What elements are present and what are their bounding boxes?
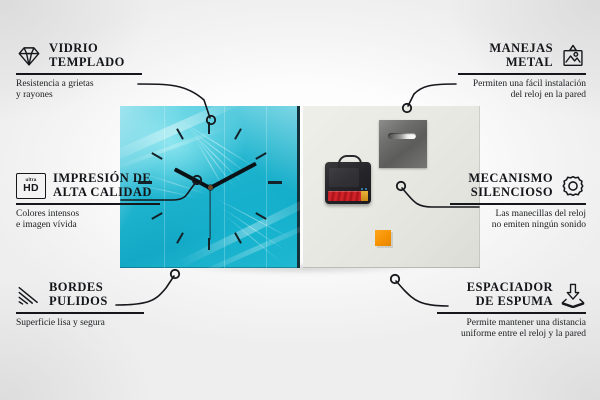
callout-description: Superficie lisa y segura — [16, 318, 144, 330]
clock-center-hub — [208, 185, 213, 190]
clock-tick — [255, 152, 266, 160]
callout-description: Las manecillas del reloj no emiten ningú… — [450, 209, 586, 232]
clock-tick — [208, 122, 210, 134]
callout-divider — [16, 312, 144, 314]
callout-foam-spacer: ESPACIADOR DE ESPUMA Permite mantener un… — [437, 281, 586, 341]
clock-tick — [268, 181, 282, 184]
callout-title: MANEJAS METAL — [489, 42, 553, 69]
battery-terminal — [361, 191, 368, 201]
callout-divider — [437, 312, 586, 314]
leader-line-metal-handles — [408, 84, 456, 106]
callout-title: ESPACIADOR DE ESPUMA — [467, 281, 553, 308]
callout-divider — [458, 73, 586, 75]
battery — [328, 191, 368, 201]
mechanism-hanging-loop — [338, 155, 362, 169]
clock-tick — [208, 238, 210, 250]
clock-tick — [176, 232, 184, 243]
mechanism-indicator-dot — [361, 188, 363, 190]
glass-sheen — [120, 106, 246, 164]
callout-header: MECANISMO SILENCIOSO — [450, 172, 586, 199]
hanging-frame-icon — [560, 43, 586, 69]
infographic-canvas: VIDRIO TEMPLADO Resistencia a grietas y … — [0, 0, 600, 400]
callout-description: Colores intensos e imagen vívida — [16, 209, 160, 232]
product-image — [120, 106, 480, 274]
quartz-mechanism — [325, 162, 371, 204]
clock-tick — [234, 128, 242, 139]
polished-edge-lines-icon — [16, 282, 42, 308]
arrow-down-into-tray-icon — [560, 282, 586, 308]
ultra-hd-icon: ultra HD — [16, 173, 46, 199]
callout-title: VIDRIO TEMPLADO — [49, 42, 125, 69]
diamond-icon — [16, 43, 42, 69]
callout-header: MANEJAS METAL — [458, 42, 586, 69]
callout-description: Permite mantener una distancia uniforme … — [437, 318, 586, 341]
mechanism-indicator-dot — [365, 188, 367, 190]
callout-title: MECANISMO SILENCIOSO — [468, 172, 553, 199]
callout-tempered-glass: VIDRIO TEMPLADO Resistencia a grietas y … — [16, 42, 142, 102]
hanger-keyhole-slot — [388, 133, 416, 139]
callout-hd-print: ultra HD IMPRESIÓN DE ALTA CALIDAD Color… — [16, 172, 160, 232]
callout-title: IMPRESIÓN DE ALTA CALIDAD — [53, 172, 152, 199]
glass-seam — [224, 106, 225, 268]
gear-icon — [560, 173, 586, 199]
callout-divider — [450, 203, 586, 205]
clock-hand-second — [209, 188, 210, 240]
ultra-hd-icon-main-text: HD — [23, 183, 39, 194]
mechanism-face-plate — [329, 168, 359, 187]
callout-polished-edges: BORDES PULIDOS Superficie lisa y segura — [16, 281, 144, 329]
glass-seam — [266, 106, 267, 268]
callout-header: VIDRIO TEMPLADO — [16, 42, 142, 69]
glass-seam — [164, 106, 165, 268]
callout-silent-mechanism: MECANISMO SILENCIOSO Las manecillas del … — [450, 172, 586, 232]
callout-title: BORDES PULIDOS — [49, 281, 108, 308]
callout-description: Permiten una fácil instalación del reloj… — [458, 79, 586, 102]
clock-hand-hour — [174, 167, 211, 189]
callout-header: ESPACIADOR DE ESPUMA — [437, 281, 586, 308]
product-shadow — [126, 266, 478, 288]
callout-header: ultra HD IMPRESIÓN DE ALTA CALIDAD — [16, 172, 160, 199]
callout-divider — [16, 203, 160, 205]
callout-description: Resistencia a grietas y rayones — [16, 79, 142, 102]
callout-metal-handles: MANEJAS METAL Permiten una fácil instala… — [458, 42, 586, 102]
callout-divider — [16, 73, 142, 75]
metal-hanger-plate — [379, 120, 427, 168]
callout-header: BORDES PULIDOS — [16, 281, 144, 308]
foam-spacer — [375, 230, 391, 246]
